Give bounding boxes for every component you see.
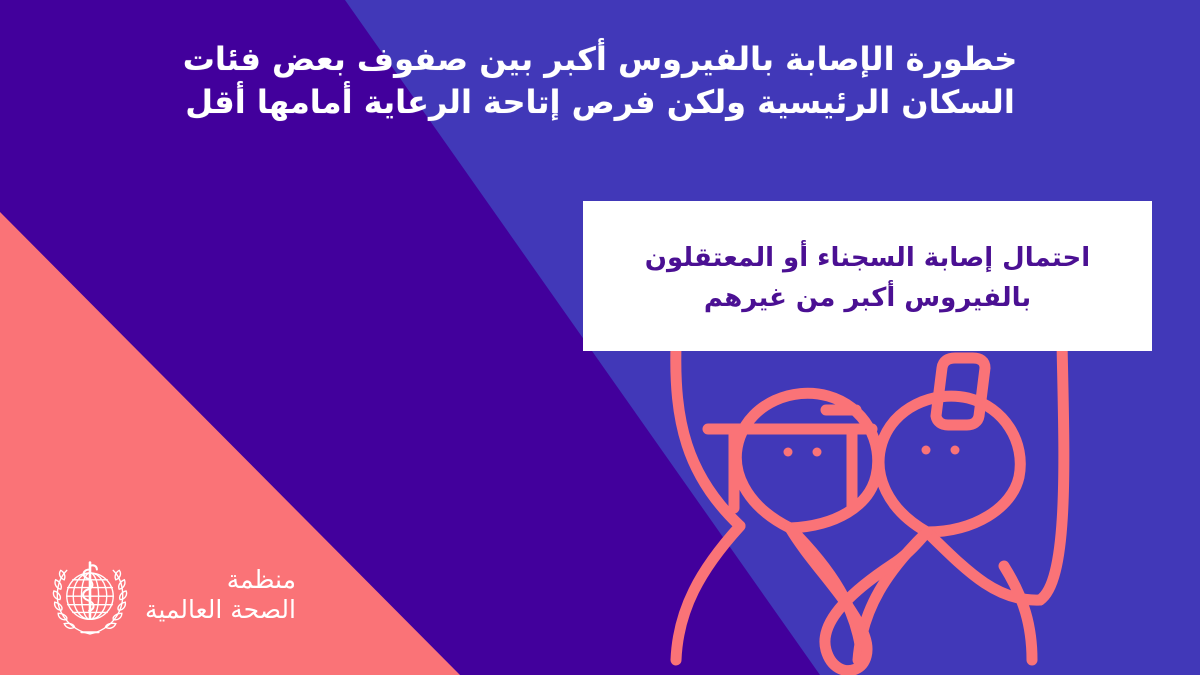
figure-right-person-with-topknot	[858, 342, 1064, 660]
right-figure-head	[879, 396, 1020, 532]
who-logo: منظمة الصحة العالمية	[47, 549, 299, 644]
callout-line-1: احتمال إصابة السجناء أو المعتقلون	[611, 238, 1124, 278]
left-figure-eye-left	[784, 448, 793, 457]
left-figure-eye-right	[813, 448, 822, 457]
two-people-illustration	[600, 330, 1100, 675]
who-wordmark: منظمة الصحة العالمية	[145, 565, 296, 628]
headline-line-1: خطورة الإصابة بالفيروس أكبر بين صفوف بعض…	[55, 38, 1145, 81]
who-wordmark-line-2: الصحة العالمية	[145, 595, 296, 625]
who-wordmark-line-1: منظمة	[145, 565, 296, 595]
right-figure-raised-arm	[1040, 342, 1064, 600]
headline-line-2: السكان الرئيسية ولكن فرص إتاحة الرعاية أ…	[55, 81, 1145, 124]
right-figure-torso-right	[927, 532, 1040, 600]
callout-line-2: بالفيروس أكبر من غيرهم	[611, 278, 1124, 318]
poster-canvas: خطورة الإصابة بالفيروس أكبر بين صفوف بعض…	[0, 0, 1200, 675]
left-figure-torso-left	[676, 526, 740, 660]
right-figure-leg	[1004, 566, 1032, 660]
callout-box: احتمال إصابة السجناء أو المعتقلون بالفير…	[583, 201, 1152, 351]
who-emblem-icon	[47, 554, 133, 640]
right-figure-eye-left	[922, 446, 931, 455]
right-figure-eye-right	[951, 446, 960, 455]
page-title: خطورة الإصابة بالفيروس أكبر بين صفوف بعض…	[55, 38, 1145, 123]
